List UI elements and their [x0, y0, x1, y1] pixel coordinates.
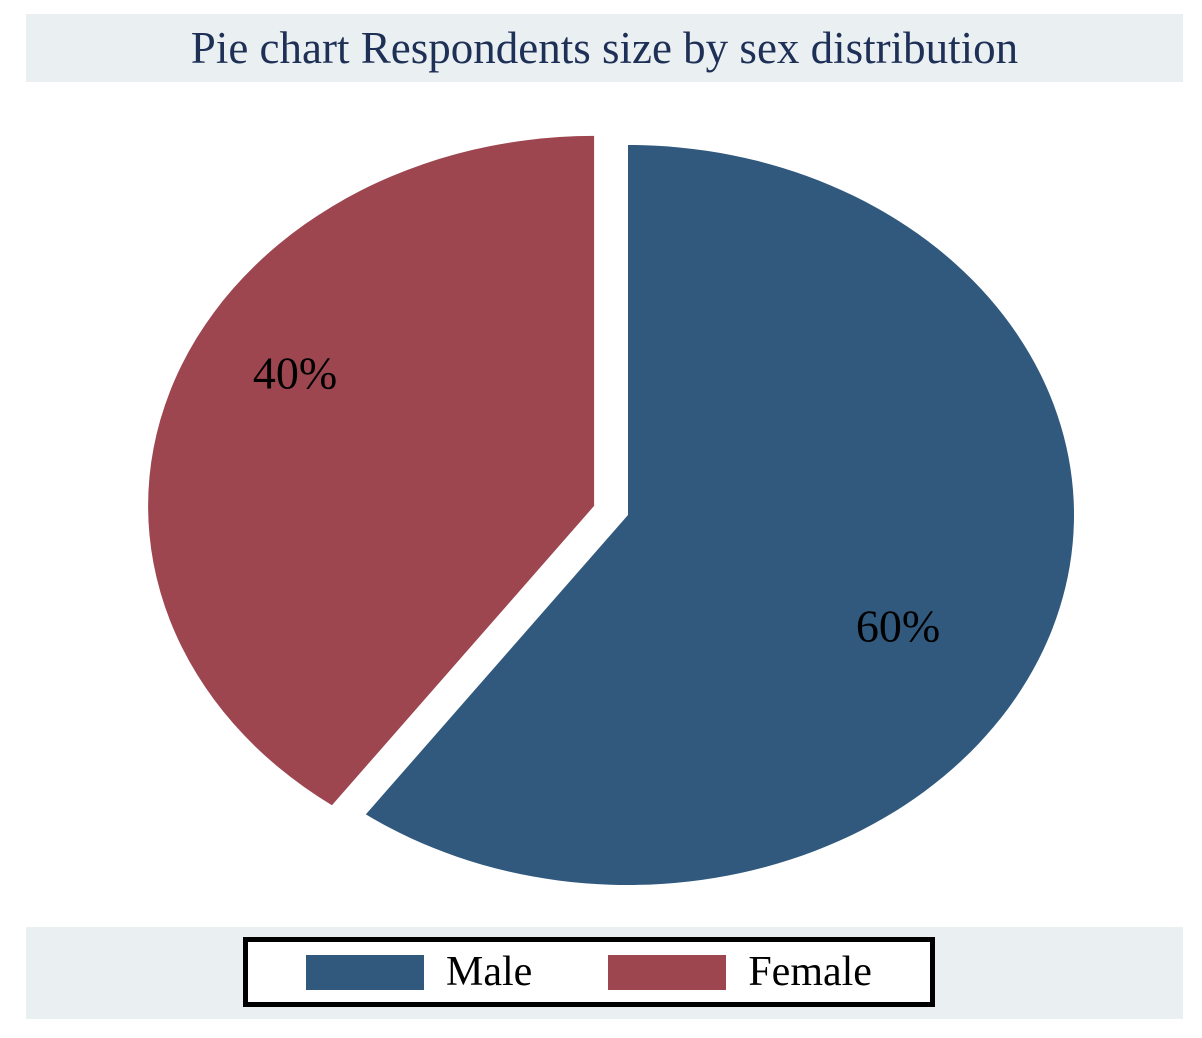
legend-band: Male Female	[26, 927, 1183, 1019]
legend-item-male[interactable]: Male	[306, 942, 532, 1002]
legend-label-female: Female	[748, 951, 872, 993]
pie-label-male: 60%	[856, 601, 940, 652]
pie-chart-svg: 40% 60%	[0, 82, 1202, 927]
legend-box: Male Female	[243, 937, 935, 1007]
chart-plot-area: 40% 60%	[0, 82, 1202, 927]
legend-swatch-male	[306, 955, 424, 990]
title-banner: Pie chart Respondents size by sex distri…	[26, 14, 1183, 82]
legend-label-male: Male	[446, 951, 532, 993]
page-title: Pie chart Respondents size by sex distri…	[191, 26, 1018, 71]
legend-swatch-female	[608, 955, 726, 990]
legend-item-female[interactable]: Female	[608, 942, 872, 1002]
pie-label-female: 40%	[253, 348, 337, 399]
